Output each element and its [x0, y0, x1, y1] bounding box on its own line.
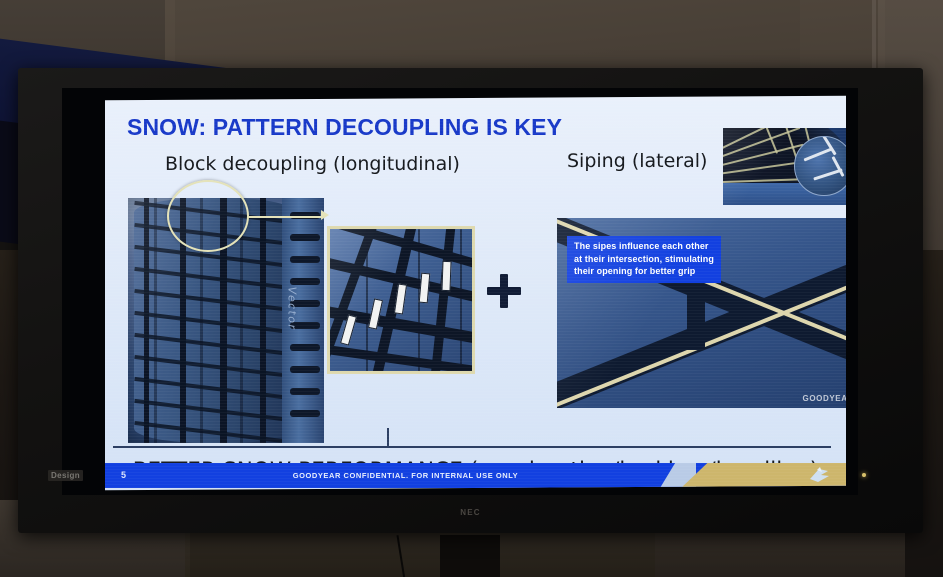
right-section-heading: Siping (lateral) — [567, 150, 707, 172]
tread-zoom-panel — [327, 226, 475, 374]
slide-canvas: SNOW: PATTERN DECOUPLING IS KEY Block de… — [105, 96, 846, 491]
monitor-stand — [440, 535, 500, 577]
slide-footer: 5 GOODYEAR CONFIDENTIAL. FOR INTERNAL US… — [105, 463, 846, 488]
bezel-badge-design: Design — [48, 470, 83, 481]
decoupling-marker — [441, 261, 451, 291]
monitor-brand-label: NEC — [460, 508, 481, 517]
sipe-intersection-photo: The sipes influence each other at their … — [557, 218, 846, 408]
summary-bracket-stem — [387, 428, 389, 447]
page-title: SNOW: PATTERN DECOUPLING IS KEY — [127, 114, 562, 141]
power-led-indicator — [862, 473, 866, 477]
goodyear-winged-foot-logo — [808, 466, 830, 485]
summary-bracket-line — [113, 446, 831, 448]
tire-siping-thumbnail — [723, 128, 846, 205]
tire-sidewall-text: Vector — [286, 287, 299, 331]
tread-callout-arrow-icon — [321, 210, 329, 220]
goodyear-watermark: GOODYEAR — [803, 394, 846, 403]
presentation-monitor: SNOW: PATTERN DECOUPLING IS KEY Block de… — [18, 68, 923, 533]
left-section-heading: Block decoupling (longitudinal) — [165, 153, 460, 175]
tread-callout-ellipse — [167, 180, 249, 252]
decoupling-marker — [419, 273, 431, 304]
tread-callout-line — [247, 216, 325, 218]
plus-operator-icon — [487, 274, 521, 308]
siping-magnifier-inset — [794, 136, 846, 196]
sipe-caption: The sipes influence each other at their … — [567, 236, 721, 283]
confidentiality-notice: GOODYEAR CONFIDENTIAL. FOR INTERNAL USE … — [105, 471, 846, 480]
